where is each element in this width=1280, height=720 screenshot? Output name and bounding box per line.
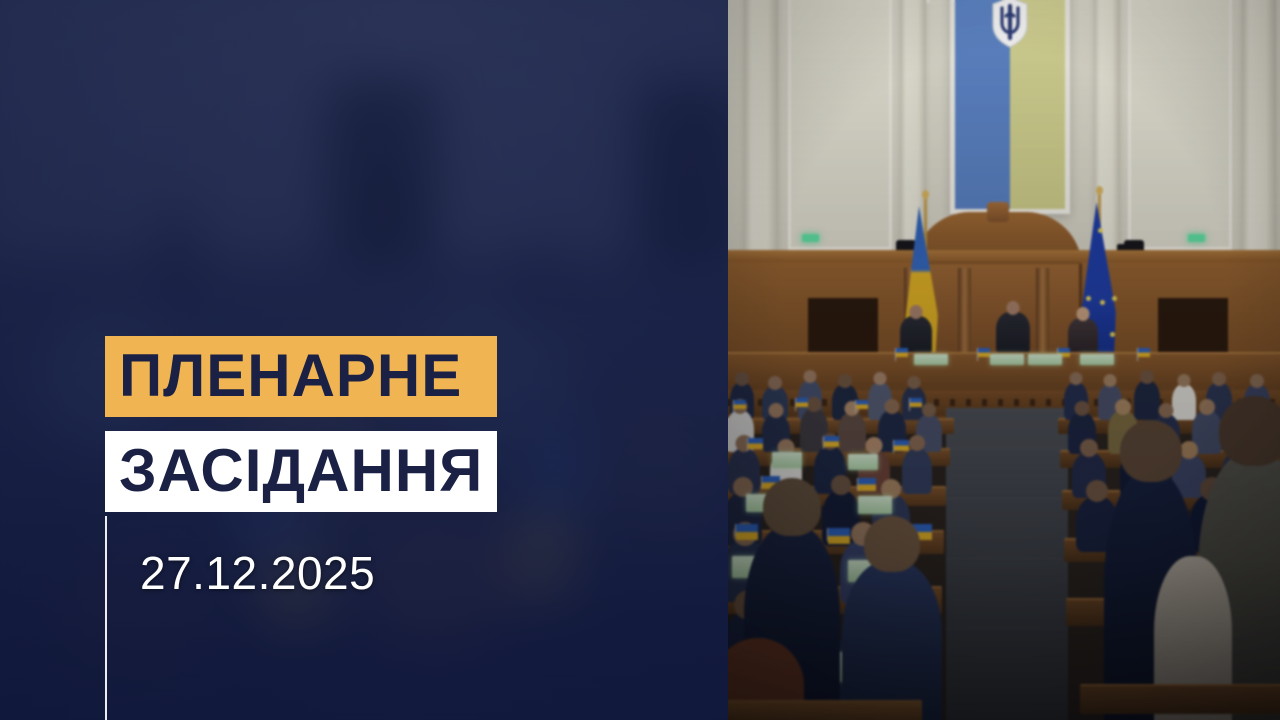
eu-star xyxy=(1112,296,1117,301)
mp-head xyxy=(807,397,822,412)
desk-flag xyxy=(824,436,839,447)
title-lockup: ПЛЕНАРНЕ ЗАСІДАННЯ xyxy=(105,336,497,512)
desk-flag xyxy=(748,438,763,449)
mp-head xyxy=(735,372,749,386)
mp-head xyxy=(1075,401,1090,416)
presidium-monitor xyxy=(1080,354,1114,365)
official-head xyxy=(910,305,923,319)
desk-monitor xyxy=(858,496,892,514)
flagpole-finial-eu xyxy=(1096,186,1103,195)
official-head xyxy=(1077,307,1090,321)
bench-foreground-left xyxy=(728,700,922,720)
rostrum-cap xyxy=(728,250,1280,262)
desk-flag xyxy=(856,400,868,409)
presidium-monitor xyxy=(914,354,948,365)
desk-flag xyxy=(736,524,758,540)
mp-head xyxy=(1120,420,1182,482)
official-head xyxy=(1007,301,1020,315)
desk-flag xyxy=(896,348,908,357)
mp-head xyxy=(1250,374,1264,388)
mp-head xyxy=(1180,441,1198,459)
desk-flag xyxy=(858,478,876,491)
tryzub-icon xyxy=(990,0,1030,49)
mp-head xyxy=(838,374,852,388)
wall-panel-right xyxy=(1128,0,1232,250)
mp-head xyxy=(1115,399,1131,415)
mp-foreground-left-blue xyxy=(842,560,942,720)
presidium-official-right xyxy=(1068,318,1098,354)
mp-head xyxy=(831,475,851,495)
mp-head xyxy=(909,435,925,451)
wall-panel-far-left xyxy=(788,0,892,250)
desk-monitor xyxy=(848,454,878,470)
mp-head xyxy=(866,437,883,454)
mp-head xyxy=(769,403,784,418)
mp-head xyxy=(1159,403,1174,418)
mp-head xyxy=(874,372,887,385)
chamber-aisle xyxy=(946,408,1068,720)
mp-head xyxy=(1086,480,1108,502)
eu-star xyxy=(1098,228,1103,233)
mp-head xyxy=(763,478,821,536)
mp-head xyxy=(1212,372,1226,386)
presidium-official-center xyxy=(996,312,1030,354)
desk-flag xyxy=(910,398,922,407)
title-line-secondary: ЗАСІДАННЯ xyxy=(105,431,497,512)
wall-pilaster-1 xyxy=(744,0,778,280)
mp-silhouette xyxy=(838,412,866,452)
flagpole-finial-ukraine xyxy=(922,190,929,199)
desk-flag xyxy=(828,528,850,544)
mp-head xyxy=(885,399,900,414)
broadcast-title-card: ПЛЕНАРНЕ ЗАСІДАННЯ 27.12.2025 xyxy=(0,0,1280,720)
ukrainian-flag-vertical xyxy=(950,0,1070,214)
desk-flag xyxy=(1138,348,1150,357)
eu-star xyxy=(1086,296,1091,301)
mp-head xyxy=(804,370,817,383)
presidium-monitor xyxy=(990,354,1024,365)
desk-monitor xyxy=(772,452,802,468)
exit-sign-left xyxy=(802,234,819,242)
verkhovna-rada-session-photo xyxy=(728,0,1280,720)
title-backdrop-panel: ПЛЕНАРНЕ ЗАСІДАННЯ 27.12.2025 xyxy=(0,0,728,720)
mp-head xyxy=(1070,372,1083,385)
eu-star xyxy=(1110,332,1115,337)
desk-flag xyxy=(894,440,909,451)
mp-silhouette xyxy=(1134,380,1160,420)
wall-pilaster-4 xyxy=(1242,0,1276,280)
mp-head xyxy=(1199,399,1215,415)
vertical-accent-rule xyxy=(105,516,107,720)
mp-head xyxy=(1219,396,1280,466)
desk-flag xyxy=(796,398,808,407)
mp-head xyxy=(1178,374,1191,387)
presidium-monitor xyxy=(1028,354,1062,365)
desk-flag xyxy=(978,348,990,357)
mp-silhouette xyxy=(1172,384,1196,420)
mp-head xyxy=(1080,439,1098,457)
exit-sign-right xyxy=(1188,234,1205,242)
desk-flag xyxy=(734,400,746,409)
bench-foreground-right xyxy=(1080,684,1280,714)
mp-head xyxy=(908,376,921,389)
mp-head xyxy=(922,403,936,417)
eu-star xyxy=(1100,300,1105,305)
mp-head xyxy=(768,376,782,390)
session-date: 27.12.2025 xyxy=(140,546,375,600)
mp-head xyxy=(1104,374,1117,387)
mp-silhouette xyxy=(902,448,932,494)
title-line-primary: ПЛЕНАРНЕ xyxy=(105,336,497,417)
mp-head xyxy=(1140,370,1154,384)
mp-head xyxy=(864,516,920,572)
